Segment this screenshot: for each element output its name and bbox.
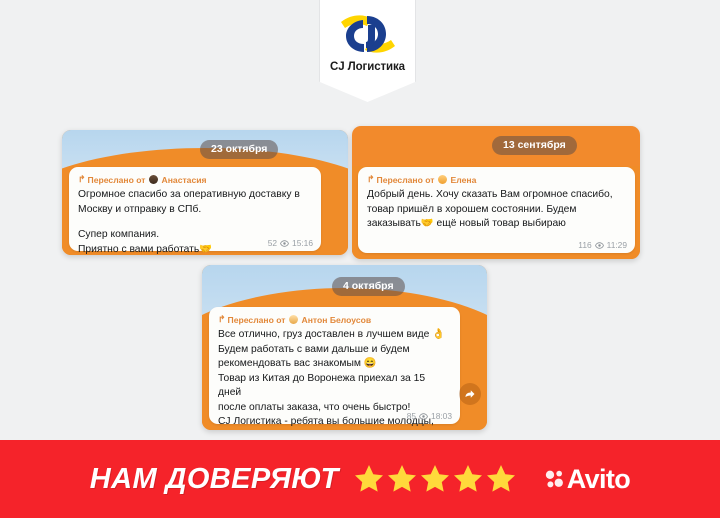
eye-icon [595,241,604,250]
eye-icon [280,239,289,248]
forwarded-label: Переслано от [377,175,435,185]
message-time: 15:16 [292,238,313,248]
forwarded-from-line: ↱ Переслано от Антон Белоусов [218,314,450,325]
sender-avatar [149,175,158,184]
message-bubble: ↱ Переслано от Елена Добрый день. Хочу с… [358,167,635,253]
forward-arrow-icon: ↱ [78,174,86,185]
sender-name: Анастасия [162,175,207,185]
testimonial-card-1[interactable]: 23 октября ↱ Переслано от Анастасия Огро… [62,130,348,255]
date-badge: 4 октября [332,277,405,296]
view-count: 52 [268,238,277,248]
cj-logistics-logo-icon [337,8,399,60]
forward-arrow-icon: ↱ [367,174,375,185]
star-icon [485,463,517,495]
share-arrow-icon [464,388,476,400]
message-meta: 52 15:16 [268,238,313,248]
share-button[interactable] [459,383,481,405]
testimonial-card-2[interactable]: 13 сентября ↱ Переслано от Елена Добрый … [352,126,640,259]
view-count: 116 [578,240,591,250]
star-rating [353,463,517,495]
star-icon [452,463,484,495]
message-bubble: ↱ Переслано от Антон Белоусов Все отличн… [209,307,460,424]
message-text-part1: Огромное спасибо за оперативную доставку… [78,188,311,217]
brand-logo-badge: CJ Логистика [319,0,416,102]
date-badge: 13 сентября [492,136,577,155]
forwarded-label: Переслано от [228,315,286,325]
message-text-part1: Добрый день. Хочу сказать Вам огромное с… [367,188,625,232]
message-text-part2: Товар из Китая до Воронежа приехал за 15… [218,372,450,431]
message-bubble: ↱ Переслано от Анастасия Огромное спасиб… [69,167,321,251]
avito-dots-icon [545,469,565,489]
text-spacer [78,217,311,228]
sender-name: Антон Белоусов [302,315,372,325]
sender-avatar [438,175,447,184]
message-text-part1: Все отлично, груз доставлен в лучшем вид… [218,328,450,372]
avito-logo: Avito [545,464,631,495]
eye-icon [419,412,428,421]
avito-wordmark: Avito [567,464,631,495]
view-count: 85 [407,411,416,421]
sender-avatar [289,315,298,324]
star-icon [386,463,418,495]
message-time: 11:29 [607,240,627,250]
star-icon [419,463,451,495]
message-meta: 85 18:03 [407,411,452,421]
message-meta: 116 11:29 [578,240,627,250]
sender-name: Елена [451,175,477,185]
banner-headline: НАМ ДОВЕРЯЮТ [90,463,339,496]
logo-label: CJ Логистика [330,61,405,73]
testimonial-card-3[interactable]: 4 октября ↱ Переслано от Антон Белоусов … [202,265,487,430]
forwarded-label: Переслано от [88,175,146,185]
forwarded-from-line: ↱ Переслано от Елена [367,174,625,185]
trust-banner: НАМ ДОВЕРЯЮТ Avito [0,440,720,518]
date-badge: 23 октября [200,140,278,159]
forward-arrow-icon: ↱ [218,314,226,325]
forwarded-from-line: ↱ Переслано от Анастасия [78,174,311,185]
message-time: 18:03 [431,411,452,421]
star-icon [353,463,385,495]
